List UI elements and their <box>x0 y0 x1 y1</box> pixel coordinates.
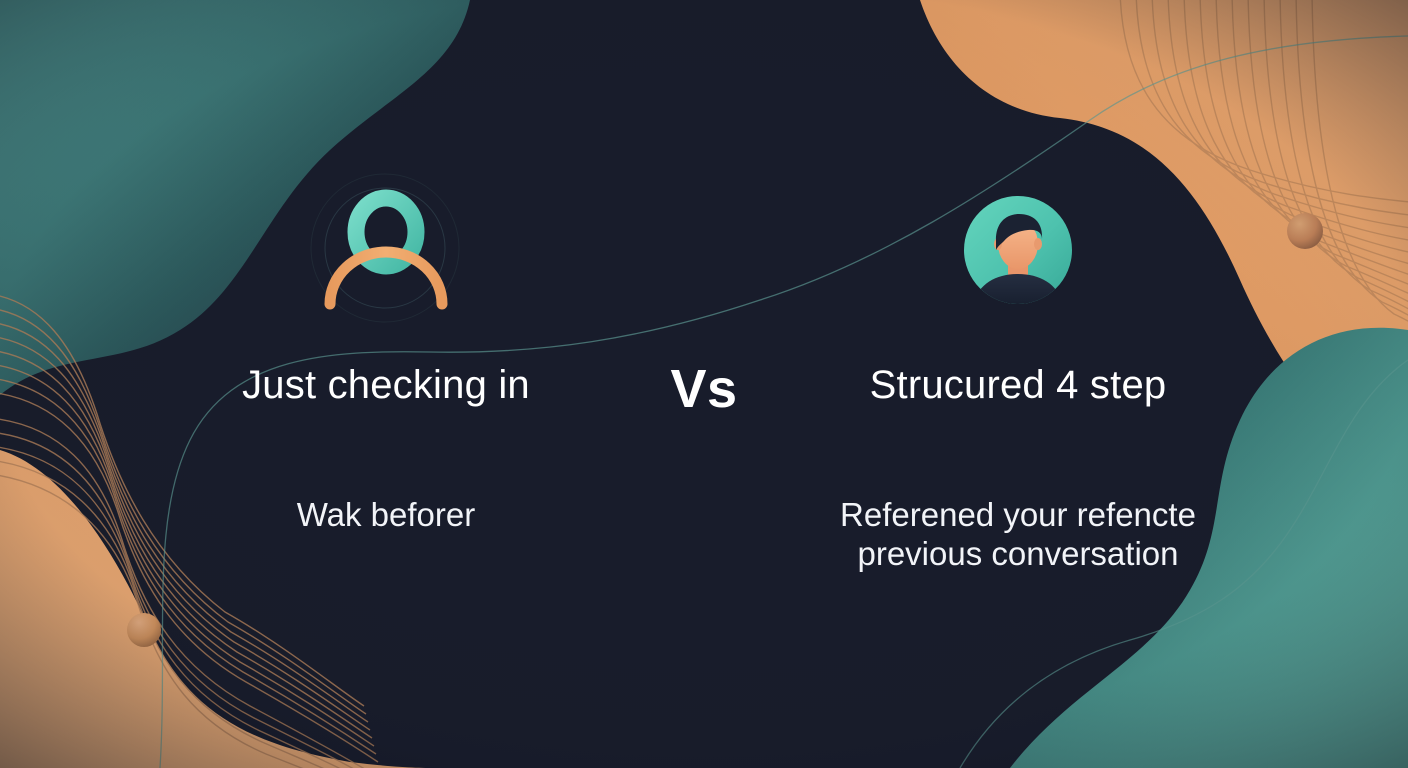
comparison-column-right: Strucured 4 step Referened your refencte… <box>808 180 1228 574</box>
right-body-line-2: previous conversation <box>840 535 1196 574</box>
slide-content: Just checking in Wak beforer Vs <box>0 0 1408 768</box>
left-headline: Just checking in <box>242 362 530 408</box>
right-headline: Strucured 4 step <box>870 362 1167 408</box>
user-photo-avatar-icon <box>962 194 1074 306</box>
slide-canvas: Just checking in Wak beforer Vs <box>0 0 1408 768</box>
left-body-line-1: Wak beforer <box>297 496 476 535</box>
right-body-line-1: Referened your refencte <box>840 496 1196 535</box>
vs-label: Vs <box>626 358 782 420</box>
right-avatar <box>948 180 1088 320</box>
left-avatar <box>316 180 456 320</box>
right-body-text: Referened your refencte previous convers… <box>840 496 1196 574</box>
avatar-ear-right <box>1034 238 1042 250</box>
left-body-text: Wak beforer <box>297 496 476 535</box>
comparison-column-left: Just checking in Wak beforer <box>176 180 596 535</box>
user-outline-avatar-icon <box>316 180 456 320</box>
